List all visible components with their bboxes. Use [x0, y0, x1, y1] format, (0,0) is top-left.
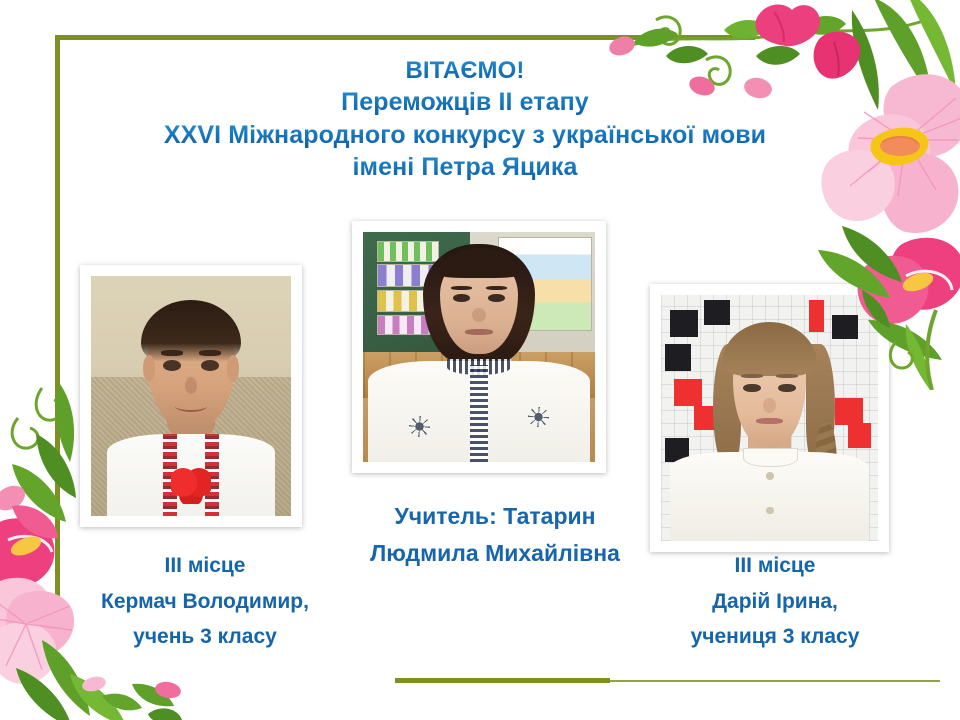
caption-teacher: Учитель: Татарин Людмила Михайлівна	[330, 498, 660, 572]
title-line-2: Переможців II етапу	[70, 86, 860, 119]
greeting-slide: ВІТАЄМО! Переможців II етапу XXVI Міжнар…	[0, 0, 960, 720]
caption-girl-name: Дарій Ірина,	[620, 584, 930, 620]
teacher-brow-left	[451, 286, 472, 290]
boy-ear-right	[227, 355, 239, 381]
boy-brow-right	[199, 350, 221, 355]
boy-nose	[185, 377, 197, 394]
teacher-mouth	[465, 329, 493, 335]
photo-teacher	[363, 232, 595, 462]
title-line-4: імені Петра Яцика	[70, 151, 860, 184]
teacher-placket-embroidery	[470, 365, 489, 462]
photo-card-teacher	[352, 221, 606, 473]
embroidery-motif-right	[528, 407, 549, 428]
backdrop-square	[665, 344, 691, 371]
title-line-1: ВІТАЄМО!	[70, 55, 860, 86]
caption-teacher-line-1: Учитель: Татарин	[330, 498, 660, 535]
teacher-eye-right	[488, 294, 504, 302]
backdrop-square	[674, 379, 702, 406]
caption-boy: III місце Кермач Володимир, учень 3 клас…	[55, 548, 355, 655]
photo-boy	[91, 276, 291, 516]
embroidery-motif-left	[409, 416, 430, 437]
teacher-brow-right	[486, 286, 507, 290]
girl-button-top	[766, 472, 774, 480]
boy-red-bow	[171, 468, 211, 504]
poster-1	[377, 241, 439, 261]
boy-ear-left	[143, 355, 155, 381]
caption-girl: III місце Дарій Ірина, учениця 3 класу	[620, 548, 930, 655]
girl-brow-left	[741, 374, 763, 378]
frame-top-border	[55, 35, 755, 40]
boy-eye-left	[163, 360, 181, 371]
frame-left-border	[55, 35, 60, 625]
photo-card-boy	[80, 265, 302, 527]
photo-girl	[661, 295, 878, 541]
backdrop-square	[832, 315, 858, 340]
backdrop-square	[848, 423, 872, 448]
photo-card-girl	[650, 284, 889, 552]
title-line-3: XXVI Міжнародного конкурсу з української…	[70, 119, 860, 152]
frame-bottom-border-thick	[395, 678, 610, 683]
boy-eye-right	[201, 360, 219, 371]
teacher-eye-left	[453, 294, 469, 302]
backdrop-square	[704, 300, 730, 325]
caption-boy-name: Кермач Володимир,	[55, 584, 355, 620]
caption-boy-grade: учень 3 класу	[55, 619, 355, 655]
caption-teacher-line-2: Людмила Михайлівна	[330, 535, 660, 572]
girl-button-bottom	[766, 507, 774, 515]
frame-bottom-border-thin	[610, 680, 940, 682]
boy-brow-left	[161, 350, 183, 355]
slide-title: ВІТАЄМО! Переможців II етапу XXVI Міжнар…	[70, 55, 860, 184]
teacher-nose	[472, 308, 486, 322]
backdrop-square	[835, 398, 863, 425]
backdrop-square	[809, 300, 824, 332]
girl-brow-right	[776, 374, 798, 378]
caption-girl-grade: учениця 3 класу	[620, 619, 930, 655]
girl-collar	[743, 448, 797, 467]
backdrop-square	[670, 310, 698, 337]
caption-boy-place: III місце	[55, 548, 355, 584]
girl-mouth	[756, 418, 782, 424]
girl-eye-right	[778, 384, 795, 393]
girl-nose	[763, 398, 776, 413]
caption-girl-place: III місце	[620, 548, 930, 584]
